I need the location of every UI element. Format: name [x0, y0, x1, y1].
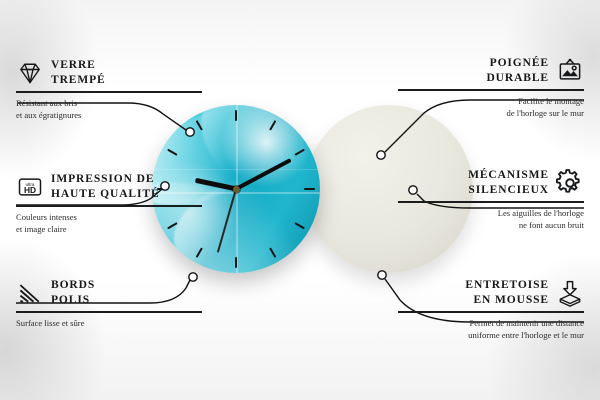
feature-title: VERRE TREMPÉ [51, 58, 106, 87]
feature-divider [16, 205, 202, 207]
feature-divider [398, 89, 584, 91]
feature-verre-trempe: VERRE TREMPÉ Résistant aux bris et aux é… [16, 58, 202, 121]
feature-divider [16, 91, 202, 93]
ultra-hd-icon: ultra HD [16, 173, 44, 201]
connector-marker-verre [186, 128, 194, 136]
feature-description: Facilite le montage de l'horloge sur le … [398, 95, 584, 119]
picture-hanger-icon [556, 57, 584, 85]
feature-divider [16, 311, 202, 313]
feature-title: POIGNÉE DURABLE [486, 56, 549, 85]
feature-description: Couleurs intenses et image claire [16, 211, 202, 235]
feature-divider [398, 311, 584, 313]
feature-description: Résistant aux bris et aux égratignures [16, 97, 202, 121]
polished-edge-icon [16, 279, 44, 307]
gear-icon [556, 169, 584, 197]
feature-title: ENTRETOISE EN MOUSSE [465, 278, 549, 307]
diamond-icon [16, 59, 44, 87]
feature-poignee-durable: POIGNÉE DURABLE Facilite le montage de l… [398, 56, 584, 119]
infographic-canvas: VERRE TREMPÉ Résistant aux bris et aux é… [0, 0, 600, 400]
svg-text:HD: HD [24, 184, 36, 194]
feature-mecanisme-silencieux: MÉCANISME SILENCIEUX Les aiguilles de l'… [398, 168, 584, 231]
feature-title: MÉCANISME SILENCIEUX [468, 168, 549, 197]
feature-entretoise-en-mousse: ENTRETOISE EN MOUSSE Permet de maintenir… [398, 278, 584, 341]
foam-spacer-icon [556, 279, 584, 307]
feature-description: Les aiguilles de l'horloge ne font aucun… [398, 207, 584, 231]
feature-description: Surface lisse et sûre [16, 317, 202, 329]
feature-impression-haute-qualite: ultra HD IMPRESSION DE HAUTE QUALITÉ Cou… [16, 172, 202, 235]
connector-marker-entretoise [378, 271, 386, 279]
feature-description: Permet de maintenir une distance uniform… [398, 317, 584, 341]
feature-title: IMPRESSION DE HAUTE QUALITÉ [51, 172, 160, 201]
feature-title: BORDS POLIS [51, 278, 95, 307]
connector-marker-poignee [377, 151, 385, 159]
feature-divider [398, 201, 584, 203]
feature-bords-polis: BORDS POLIS Surface lisse et sûre [16, 278, 202, 329]
